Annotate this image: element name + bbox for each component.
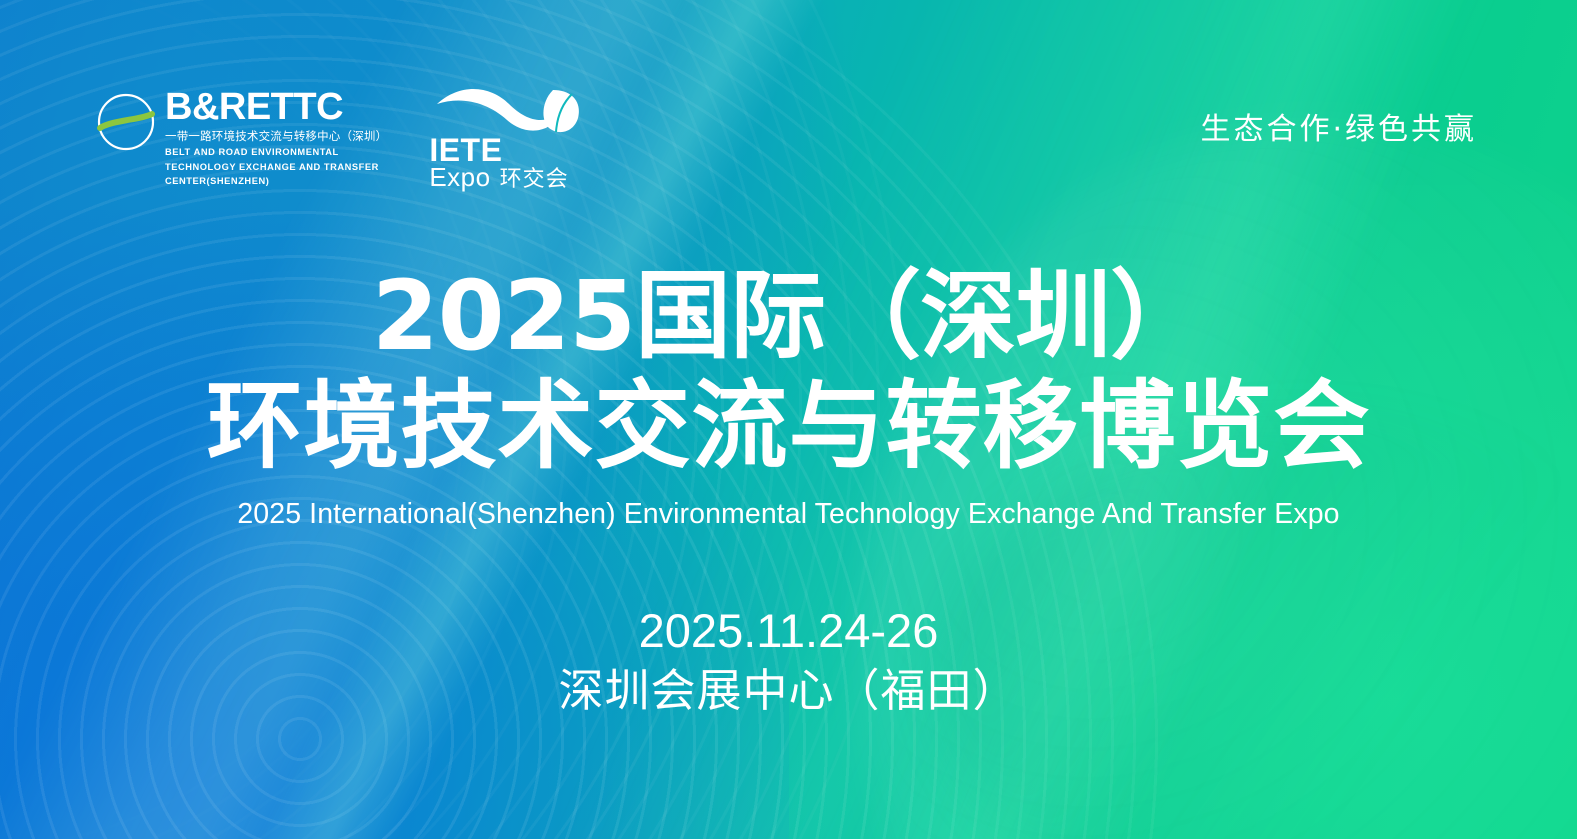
logo-group: B&RETTC 一带一路环境技术交流与转移中心（深圳） BELT AND ROA… (96, 88, 585, 188)
title-line-1: 2025国际（深圳） (0, 268, 1577, 366)
brettc-logo[interactable]: B&RETTC 一带一路环境技术交流与转移中心（深圳） BELT AND ROA… (96, 88, 387, 188)
event-venue: 深圳会展中心（福田） (0, 664, 1577, 718)
iete-expo-label: Expo (429, 164, 490, 190)
brettc-subtitle-cn: 一带一路环境技术交流与转移中心（深圳） (165, 131, 387, 144)
brettc-wordmark: B&RETTC (165, 88, 387, 126)
iete-subtitle: Expo 环交会 (429, 164, 568, 190)
iete-expo-logo[interactable]: IETE Expo 环交会 (429, 88, 585, 184)
brettc-subtitle-en-line1: BELT AND ROAD ENVIRONMENTAL (165, 146, 387, 159)
title-english: 2025 International(Shenzhen) Environment… (0, 498, 1577, 531)
event-date: 2025.11.24-26 (0, 604, 1577, 658)
brettc-subtitle-en-line3: CENTER(SHENZHEN) (165, 175, 387, 188)
title-block: 2025国际（深圳） 环境技术交流与转移博览会 2025 Internation… (0, 268, 1577, 531)
iete-expo-label-cn: 环交会 (500, 168, 569, 190)
title-line-2: 环境技术交流与转移博览会 (0, 378, 1577, 476)
event-details: 2025.11.24-26 深圳会展中心（福田） (0, 604, 1577, 718)
slogan: 生态合作·绿色共赢 (1200, 104, 1477, 148)
expo-banner: B&RETTC 一带一路环境技术交流与转移中心（深圳） BELT AND ROA… (0, 0, 1577, 839)
brettc-subtitle-en-line2: TECHNOLOGY EXCHANGE AND TRANSFER (165, 161, 387, 174)
globe-circle-mark (96, 92, 156, 152)
